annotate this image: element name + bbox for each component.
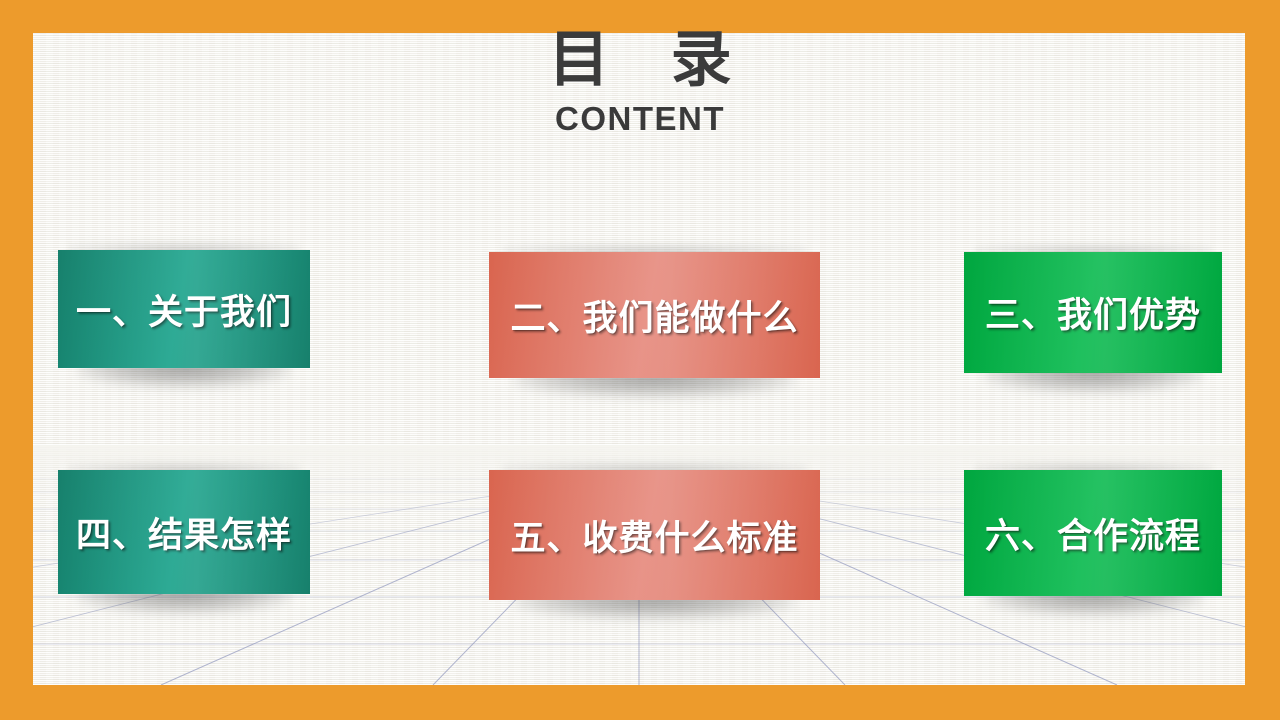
content-card-6[interactable]: 六、合作流程 (964, 470, 1222, 596)
content-card-1[interactable]: 一、关于我们 (58, 250, 310, 368)
content-card-2-body[interactable]: 二、我们能做什么 (489, 252, 820, 378)
content-card-2[interactable]: 二、我们能做什么 (489, 252, 820, 378)
content-card-1-surface[interactable]: 一、关于我们 (58, 250, 310, 368)
page-title-cn: 目 录 (0, 24, 1280, 96)
content-card-4[interactable]: 四、结果怎样 (58, 470, 310, 594)
content-card-2-label: 二、我们能做什么 (510, 290, 798, 341)
content-card-4-label: 四、结果怎样 (76, 507, 292, 558)
content-card-4-body[interactable]: 四、结果怎样 (58, 470, 310, 594)
content-card-6-body[interactable]: 六、合作流程 (964, 470, 1222, 596)
content-card-5-body[interactable]: 五、收费什么标准 (489, 470, 820, 600)
content-card-4-surface[interactable]: 四、结果怎样 (58, 470, 310, 594)
content-card-1-body[interactable]: 一、关于我们 (58, 250, 310, 368)
content-card-6-surface[interactable]: 六、合作流程 (964, 470, 1222, 596)
content-card-3-label: 三、我们优势 (985, 287, 1201, 338)
content-card-6-label: 六、合作流程 (985, 508, 1201, 559)
content-card-3-surface[interactable]: 三、我们优势 (964, 252, 1222, 373)
content-card-5-label: 五、收费什么标准 (510, 510, 798, 561)
content-card-3-body[interactable]: 三、我们优势 (964, 252, 1222, 373)
content-card-3[interactable]: 三、我们优势 (964, 252, 1222, 373)
page-title-en: CONTENT (0, 100, 1280, 138)
content-card-5-surface[interactable]: 五、收费什么标准 (489, 470, 820, 600)
slide-root: 目 录 CONTENT 一、关于我们 二、我们能做什么 (0, 0, 1280, 720)
content-card-2-surface[interactable]: 二、我们能做什么 (489, 252, 820, 378)
content-card-1-label: 一、关于我们 (76, 284, 292, 335)
title-block: 目 录 CONTENT (0, 24, 1280, 138)
content-card-5[interactable]: 五、收费什么标准 (489, 470, 820, 600)
